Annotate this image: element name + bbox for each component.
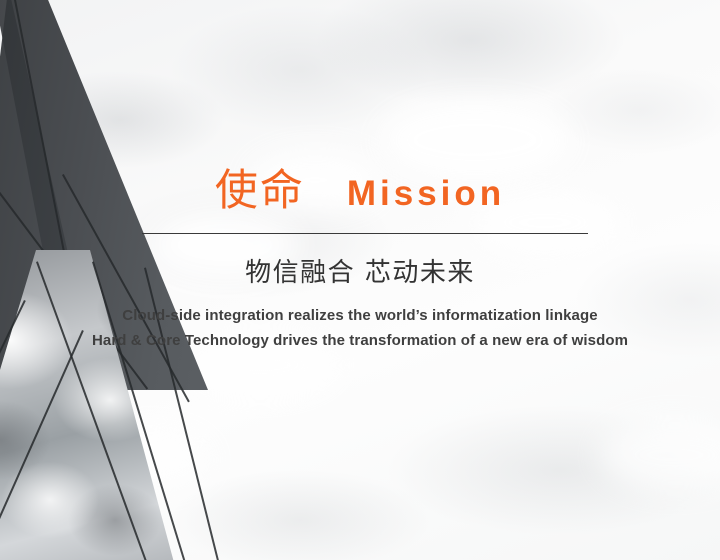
subtitle: 物信融合 芯动未来: [0, 258, 720, 289]
mission-banner: 使命Mission 物信融合 芯动未来 Cloud-side integrati…: [0, 0, 720, 560]
title-english: Mission: [347, 176, 505, 211]
description-line-2: Hard & Core Technology drives the transf…: [0, 328, 720, 353]
description-line-1: Cloud-side integration realizes the worl…: [0, 303, 720, 328]
title-chinese: 使命: [215, 170, 305, 213]
title-divider: [142, 233, 588, 234]
text-content: 使命Mission 物信融合 芯动未来 Cloud-side integrati…: [0, 0, 720, 560]
description-block: Cloud-side integration realizes the worl…: [0, 303, 720, 353]
page-title: 使命Mission: [0, 170, 720, 213]
